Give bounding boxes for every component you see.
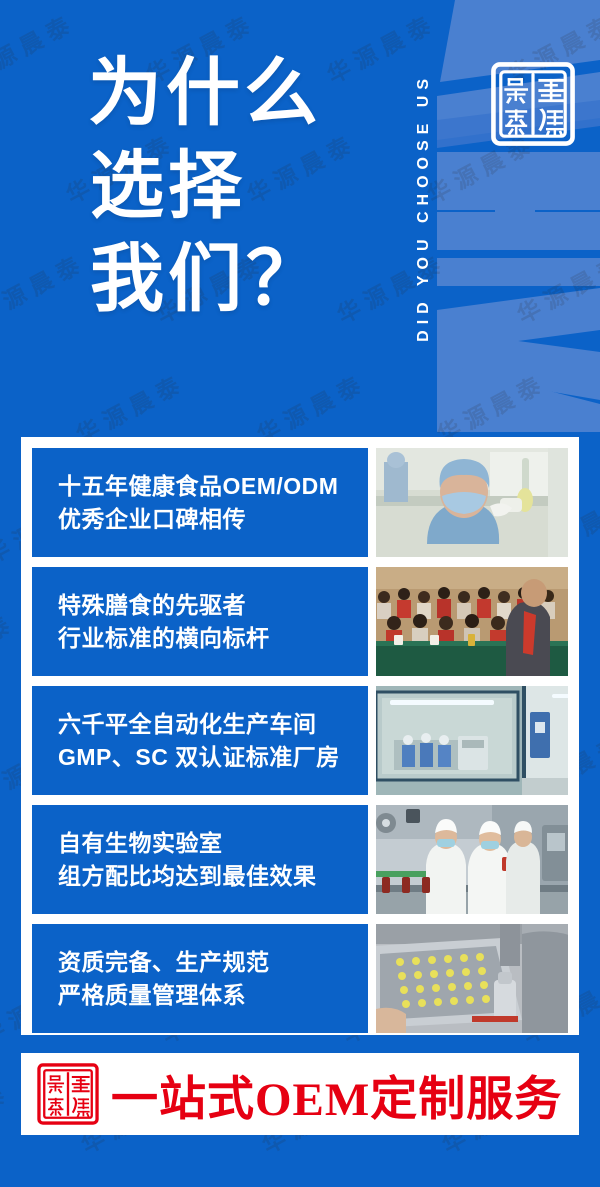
footer-slogan: 一站式OEM定制服务 [111,1060,562,1129]
feature-card-text: 特殊膳食的先驱者 行业标准的横向标杆 [32,567,368,676]
watermark-text: 华源晨泰 [0,844,6,930]
brand-seal-white-icon [487,58,579,150]
feature-card-text: 十五年健康食品OEM/ODM 优秀企业口碑相传 [32,448,368,557]
feature-card[interactable]: 特殊膳食的先驱者 行业标准的横向标杆 [32,567,568,676]
feature-line-1: 资质完备、生产规范 [58,946,368,979]
watermark-text: 华源晨泰 [0,1074,16,1160]
poster-header: 为什么 选择 我们？ DID YOU CHOOSE US [0,0,600,432]
title-line-1: 为什么 [88,56,324,133]
feature-line-1: 十五年健康食品OEM/ODM [58,470,368,503]
feature-line-2: 行业标准的横向标杆 [58,622,368,655]
feature-photo-lab-technician [376,448,568,557]
feature-card[interactable]: 自有生物实验室 组方配比均达到最佳效果 [32,805,568,914]
feature-line-2: 组方配比均达到最佳效果 [58,860,368,893]
page-title: 为什么 选择 我们？ [88,56,324,319]
footer-banner: 一站式OEM定制服务 [21,1053,579,1135]
feature-line-2: 严格质量管理体系 [58,979,368,1012]
title-line-2: 选择 [90,149,324,226]
feature-photo-cleanroom-corridor [376,686,568,795]
feature-card-text: 资质完备、生产规范 严格质量管理体系 [32,924,368,1033]
title-line-3: 我们？ [90,242,324,319]
feature-card-text: 自有生物实验室 组方配比均达到最佳效果 [32,805,368,914]
feature-line-1: 六千平全自动化生产车间 [58,708,368,741]
feature-card[interactable]: 六千平全自动化生产车间 GMP、SC 双认证标准厂房 [32,686,568,795]
feature-card[interactable]: 十五年健康食品OEM/ODM 优秀企业口碑相传 [32,448,568,557]
features-panel: 十五年健康食品OEM/ODM 优秀企业口碑相传 [21,437,579,1035]
vertical-tagline-text: DID YOU CHOOSE US [415,73,433,342]
feature-line-2: 优秀企业口碑相传 [58,503,368,536]
vertical-tagline: DID YOU CHOOSE US [404,18,444,396]
feature-photo-production-line-workers [376,805,568,914]
feature-photo-conference-audience [376,567,568,676]
poster-root: 华源晨泰 华源晨泰 华源晨泰 华源晨泰 华源晨泰 华源晨泰 华源晨泰 华源晨泰 … [0,0,600,1187]
feature-line-1: 特殊膳食的先驱者 [58,589,368,622]
feature-card-text: 六千平全自动化生产车间 GMP、SC 双认证标准厂房 [32,686,368,795]
watermark-text: 华源晨泰 [0,604,21,690]
feature-card[interactable]: 资质完备、生产规范 严格质量管理体系 [32,924,568,1033]
brand-seal-red-icon [35,1061,101,1127]
feature-line-1: 自有生物实验室 [58,827,368,860]
feature-card-list: 十五年健康食品OEM/ODM 优秀企业口碑相传 [32,448,568,1024]
feature-photo-blister-packing-machine [376,924,568,1033]
feature-line-2: GMP、SC 双认证标准厂房 [58,741,368,774]
